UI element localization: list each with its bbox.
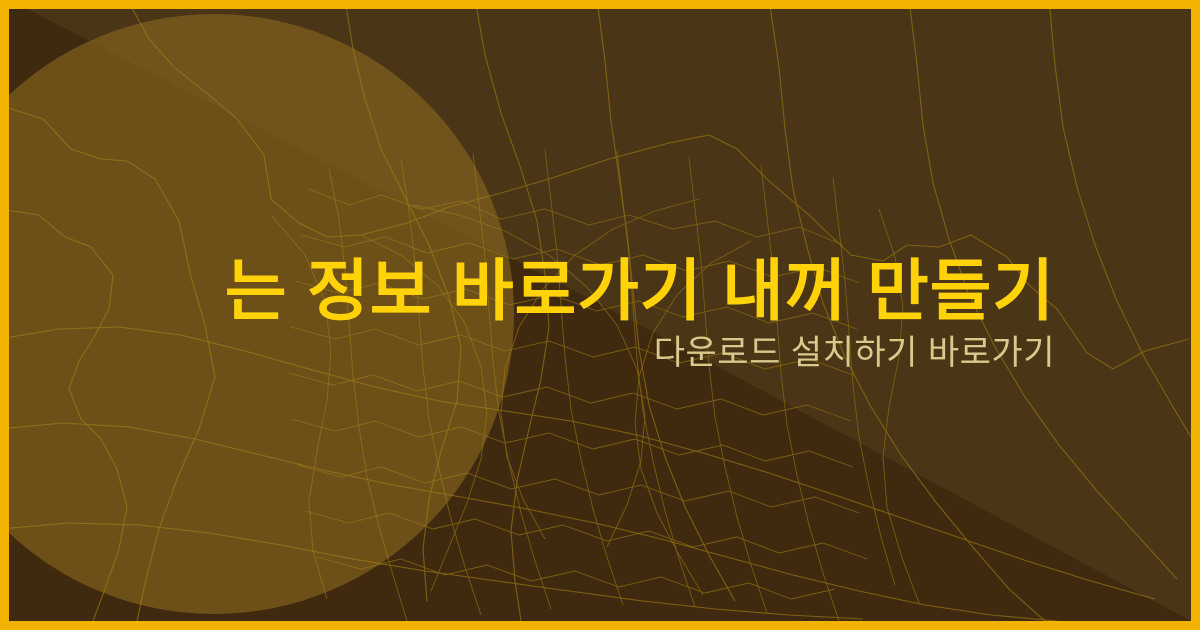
- page-subtitle: 다운로드 설치하기 바로가기: [654, 333, 1055, 374]
- page-title: 는 정보 바로가기 내꺼 만들기: [225, 256, 1055, 327]
- og-banner-card: 는 정보 바로가기 내꺼 만들기 다운로드 설치하기 바로가기: [0, 0, 1200, 630]
- text-content: 는 정보 바로가기 내꺼 만들기 다운로드 설치하기 바로가기: [9, 9, 1191, 621]
